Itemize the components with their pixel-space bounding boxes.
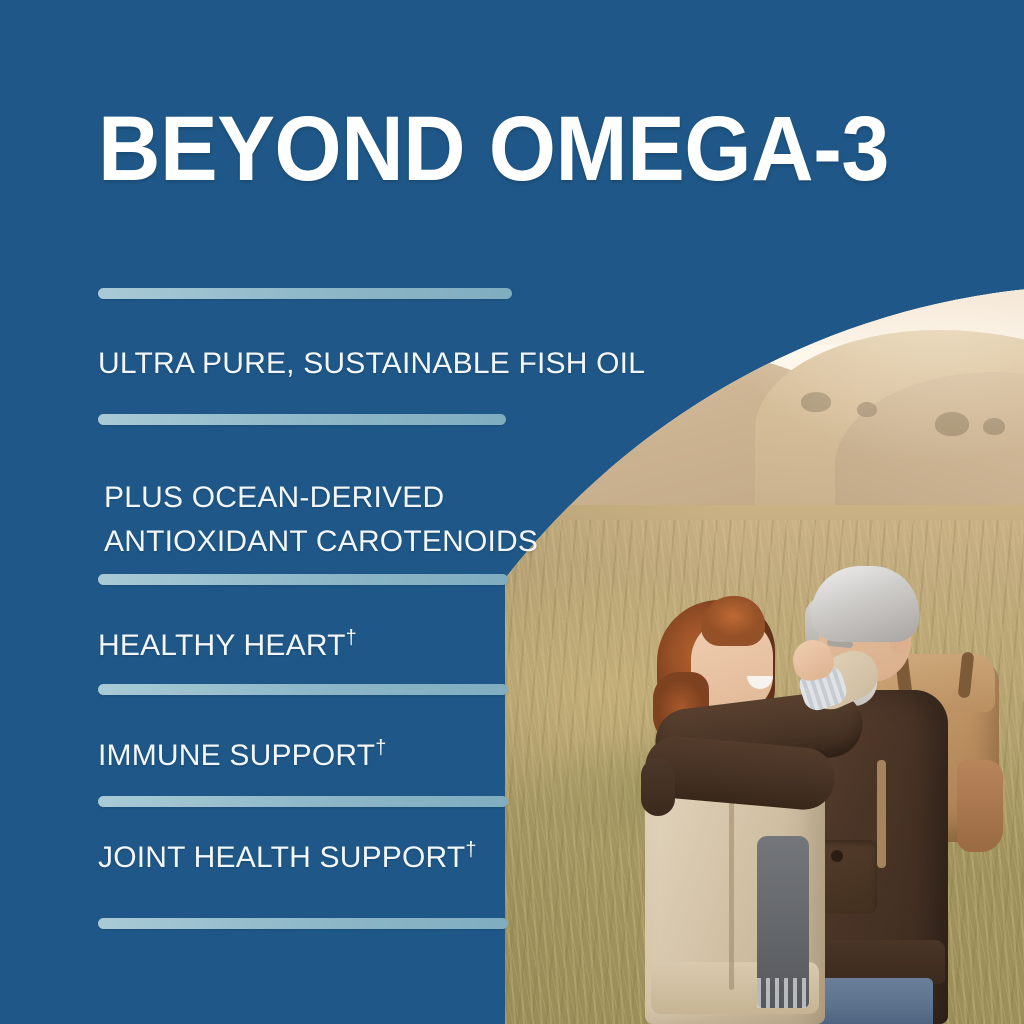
benefit-fish-oil: ULTRA PURE, SUSTAINABLE FISH OIL — [98, 344, 645, 384]
benefit-joint-health-support: JOINT HEALTH SUPPORT† — [98, 838, 477, 878]
content-column: BEYOND OMEGA-3 ULTRA PURE, SUSTAINABLE F… — [0, 0, 560, 1024]
photo-man-sleeve-cuff — [641, 758, 675, 816]
photo-grey-scarf-fringe — [757, 978, 809, 1008]
divider-5 — [98, 796, 508, 807]
benefit-carotenoids: PLUS OCEAN-DERIVED ANTIOXIDANT CAROTENOI… — [104, 476, 564, 564]
divider-6 — [98, 918, 508, 929]
divider-4 — [98, 684, 508, 695]
dagger-icon: † — [375, 737, 386, 759]
benefit-healthy-heart-label: HEALTHY HEART — [98, 629, 346, 662]
divider-1 — [98, 288, 512, 299]
photo-shrub — [601, 398, 619, 412]
photo-woman-coat-seam — [729, 790, 734, 990]
photo-shrub — [563, 404, 589, 422]
benefit-carotenoids-line-1: PLUS OCEAN-DERIVED — [104, 481, 444, 514]
dagger-icon: † — [465, 839, 476, 861]
benefit-joint-health-support-label: JOINT HEALTH SUPPORT — [98, 841, 465, 874]
divider-2 — [98, 414, 506, 425]
benefit-immune-support: IMMUNE SUPPORT† — [98, 736, 387, 776]
photo-man-jacket-strap — [877, 760, 886, 868]
photo-backpack-side-pocket — [957, 760, 1003, 852]
benefit-healthy-heart: HEALTHY HEART† — [98, 626, 357, 666]
benefit-carotenoids-line-2: ANTIOXIDANT CAROTENOIDS — [104, 525, 538, 558]
dagger-icon: † — [346, 627, 357, 649]
benefit-immune-support-label: IMMUNE SUPPORT — [98, 739, 375, 772]
product-benefits-poster: BEYOND OMEGA-3 ULTRA PURE, SUSTAINABLE F… — [0, 0, 1024, 1024]
photo-man-hair — [811, 566, 919, 642]
photo-woman-hair-curl — [701, 596, 765, 646]
page-title: BEYOND OMEGA-3 — [98, 103, 889, 195]
photo-man-jacket-button — [831, 850, 843, 862]
divider-3 — [98, 574, 508, 585]
